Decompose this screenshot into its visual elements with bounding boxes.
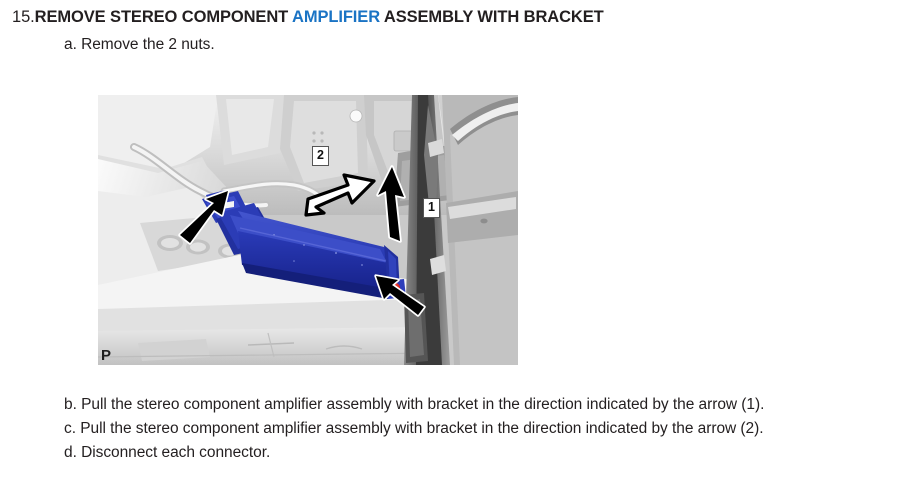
- figure-amplifier-location: 2 1 P: [98, 95, 518, 365]
- substep-b: b. Pull the stereo component amplifier a…: [64, 396, 764, 414]
- substep-c: c. Pull the stereo component amplifier a…: [64, 420, 763, 438]
- heading-text-before: REMOVE STEREO COMPONENT: [35, 8, 292, 26]
- step-number: 15.: [12, 8, 35, 26]
- callout-label-2: 2: [312, 146, 329, 166]
- heading-highlight-amplifier: AMPLIFIER: [292, 8, 380, 26]
- heading-text-after: ASSEMBLY WITH BRACKET: [380, 8, 604, 26]
- figure-illustration: [98, 95, 518, 365]
- page-title: 15.REMOVE STEREO COMPONENT AMPLIFIER ASS…: [12, 8, 604, 27]
- substep-d: d. Disconnect each connector.: [64, 444, 270, 462]
- figure-corner-mark: P: [101, 347, 111, 364]
- substep-a: a. Remove the 2 nuts.: [64, 36, 215, 54]
- callout-label-1: 1: [423, 198, 440, 218]
